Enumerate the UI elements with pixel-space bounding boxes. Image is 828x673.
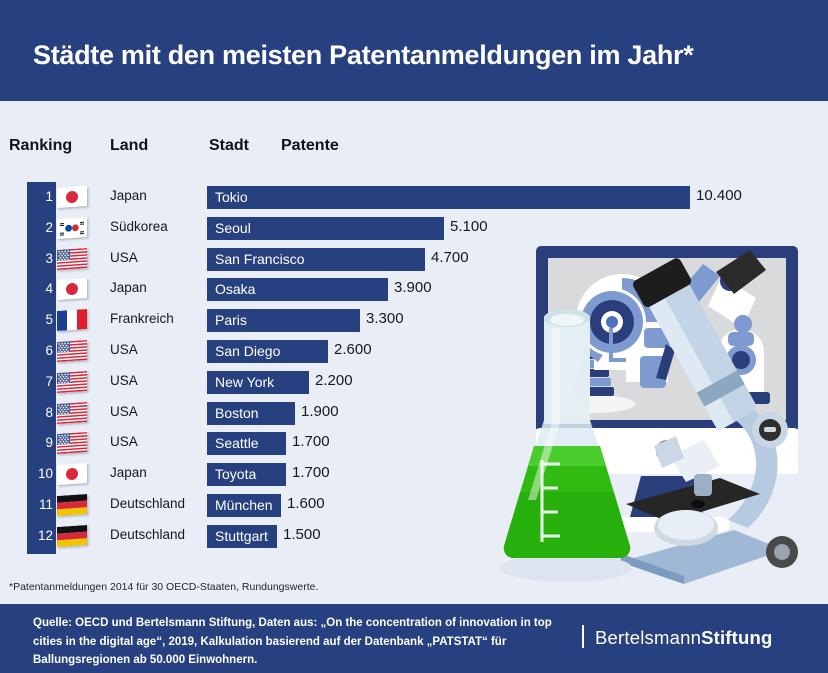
city-label: Boston [215, 405, 259, 421]
source-text: Quelle: OECD und Bertelsmann Stiftung, D… [33, 614, 558, 670]
science-illustration [498, 232, 828, 584]
country-label: Japan [110, 280, 147, 295]
country-label: USA [110, 342, 138, 357]
rank-number: 12 [27, 528, 53, 543]
source-footer: Quelle: OECD und Bertelsmann Stiftung, D… [0, 604, 828, 673]
value-label: 1.700 [292, 464, 330, 481]
rank-number: 2 [27, 220, 53, 235]
flag-jp-icon [57, 463, 87, 485]
value-bar: Boston [207, 402, 295, 425]
flag-jp-icon [57, 186, 87, 208]
value-label: 1.600 [287, 495, 325, 512]
value-label: 5.100 [450, 218, 488, 235]
table-row: 1JapanTokio10.400 [0, 183, 828, 214]
value-bar: Stuttgart [207, 525, 277, 548]
city-label: San Diego [215, 343, 280, 359]
rank-number: 1 [27, 189, 53, 204]
country-label: USA [110, 373, 138, 388]
infographic-page: Städte mit den meisten Patentanmeldungen… [0, 0, 828, 673]
flag-fr-icon [57, 309, 87, 331]
logo-bar-icon [582, 625, 584, 648]
value-label: 1.900 [301, 403, 339, 420]
rank-number: 8 [27, 405, 53, 420]
value-bar: San Francisco [207, 248, 425, 271]
value-label: 2.200 [315, 372, 353, 389]
city-label: San Francisco [215, 251, 304, 267]
flag-kr-icon [57, 217, 87, 239]
flag-de-icon [57, 525, 87, 547]
city-label: München [215, 497, 273, 513]
flag-us-icon [57, 432, 87, 454]
value-label: 3.900 [394, 279, 432, 296]
rank-number: 9 [27, 435, 53, 450]
rank-number: 5 [27, 312, 53, 327]
city-label: Stuttgart [215, 528, 268, 544]
value-bar: Toyota [207, 463, 286, 486]
country-label: Japan [110, 465, 147, 480]
value-label: 2.600 [334, 341, 372, 358]
city-label: Paris [215, 312, 247, 328]
city-label: Seattle [215, 435, 259, 451]
value-label: 4.700 [431, 249, 469, 266]
rank-number: 6 [27, 343, 53, 358]
logo-bold-text: Stiftung [701, 627, 772, 648]
logo-regular-text: Bertelsmann [595, 627, 701, 648]
value-bar: München [207, 494, 281, 517]
country-label: USA [110, 250, 138, 265]
country-label: Südkorea [110, 219, 168, 234]
bertelsmann-stiftung-logo: BertelsmannStiftung [582, 625, 773, 649]
value-label: 10.400 [696, 187, 742, 204]
city-label: Tokio [215, 189, 248, 205]
value-label: 1.500 [283, 526, 321, 543]
value-bar: Osaka [207, 278, 388, 301]
city-label: New York [215, 374, 274, 390]
rank-number: 3 [27, 251, 53, 266]
footnote: *Patentanmeldungen 2014 für 30 OECD-Staa… [9, 581, 318, 593]
value-bar: New York [207, 371, 309, 394]
value-bar: Tokio [207, 186, 690, 209]
value-bar: San Diego [207, 340, 328, 363]
flag-us-icon [57, 402, 87, 424]
country-label: Deutschland [110, 527, 185, 542]
rank-number: 10 [27, 466, 53, 481]
value-bar: Seoul [207, 217, 444, 240]
city-label: Seoul [215, 220, 251, 236]
country-label: USA [110, 434, 138, 449]
value-label: 3.300 [366, 310, 404, 327]
rank-number: 11 [27, 497, 53, 512]
city-label: Toyota [215, 466, 256, 482]
value-label: 1.700 [292, 433, 330, 450]
flag-us-icon [57, 248, 87, 270]
country-label: Frankreich [110, 311, 174, 326]
country-label: Japan [110, 188, 147, 203]
value-bar: Seattle [207, 432, 286, 455]
city-label: Osaka [215, 281, 255, 297]
flag-us-icon [57, 371, 87, 393]
flag-us-icon [57, 340, 87, 362]
value-bar: Paris [207, 309, 360, 332]
country-label: Deutschland [110, 496, 185, 511]
rank-number: 4 [27, 281, 53, 296]
flag-jp-icon [57, 278, 87, 300]
country-label: USA [110, 404, 138, 419]
flag-de-icon [57, 494, 87, 516]
rank-number: 7 [27, 374, 53, 389]
